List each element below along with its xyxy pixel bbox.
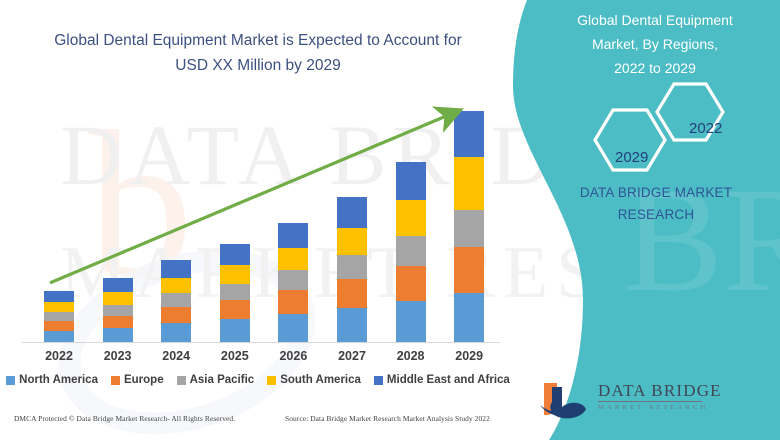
bar-segment-middle-east-and-africa [337, 197, 367, 228]
bar-segment-europe [454, 247, 484, 293]
bar-segment-middle-east-and-africa [396, 162, 426, 200]
panel-brand-text: DATA BRIDGE MARKET RESEARCH [540, 182, 772, 226]
bar-segment-europe [278, 290, 308, 313]
bar-segment-middle-east-and-africa [278, 223, 308, 248]
bar-segment-north-america [103, 328, 133, 342]
bar-segment-asia-pacific [220, 284, 250, 300]
hexagon-group: 2022 2029 [585, 78, 770, 188]
x-label-2027: 2027 [322, 349, 382, 363]
bar-2028 [396, 162, 426, 342]
x-label-2022: 2022 [29, 349, 89, 363]
bar-segment-europe [337, 279, 367, 308]
bar-segment-north-america [396, 301, 426, 342]
bar-segment-asia-pacific [44, 312, 74, 321]
logo-b-icon [538, 379, 594, 419]
bar-segment-south-america [161, 278, 191, 294]
legend-swatch-icon [374, 376, 383, 385]
bar-2022 [44, 291, 74, 342]
logo-rule [598, 401, 702, 402]
panel-brand-line-1: DATA BRIDGE MARKET [540, 182, 772, 204]
logo-main-text: DATA BRIDGE [598, 381, 722, 400]
panel-title: Global Dental Equipment Market, By Regio… [540, 8, 770, 80]
legend-item-south-america[interactable]: South America [267, 374, 361, 386]
hex-2022-label: 2022 [689, 120, 722, 137]
legend-label: South America [280, 374, 361, 386]
bar-segment-asia-pacific [161, 293, 191, 307]
x-label-2025: 2025 [205, 349, 265, 363]
data-bridge-logo: DATA BRIDGE MARKET RESEARCH [538, 379, 738, 419]
bar-segment-europe [220, 300, 250, 319]
bar-segment-north-america [454, 293, 484, 342]
panel-title-line-1: Global Dental Equipment [540, 8, 770, 32]
legend-label: North America [19, 374, 98, 386]
footer-copyright: DMCA Protected © Data Bridge Market Rese… [14, 414, 235, 423]
bar-segment-asia-pacific [454, 210, 484, 247]
bar-segment-asia-pacific [103, 305, 133, 316]
bar-segment-europe [396, 266, 426, 301]
bar-2026 [278, 223, 308, 343]
bar-2025 [220, 244, 250, 342]
legend-swatch-icon [177, 376, 186, 385]
bar-segment-south-america [396, 200, 426, 236]
legend-item-north-america[interactable]: North America [6, 374, 98, 386]
logo-text: DATA BRIDGE MARKET RESEARCH [598, 381, 722, 413]
bar-segment-north-america [337, 308, 367, 342]
panel-brand-line-2: RESEARCH [540, 204, 772, 226]
bar-segment-south-america [44, 302, 74, 312]
panel-title-line-2: Market, By Regions, [540, 32, 770, 56]
bar-segment-north-america [44, 331, 74, 342]
panel-title-line-3: 2022 to 2029 [540, 56, 770, 80]
x-label-2028: 2028 [381, 349, 441, 363]
x-label-2026: 2026 [263, 349, 323, 363]
bar-2024 [161, 260, 191, 342]
bar-segment-middle-east-and-africa [454, 111, 484, 157]
bar-segment-south-america [220, 265, 250, 283]
bar-segment-europe [103, 316, 133, 328]
bar-segment-middle-east-and-africa [44, 291, 74, 302]
x-label-2023: 2023 [88, 349, 148, 363]
bar-segment-south-america [103, 292, 133, 304]
bar-2023 [103, 278, 133, 342]
legend-item-europe[interactable]: Europe [111, 374, 164, 386]
legend-swatch-icon [111, 376, 120, 385]
x-label-2029: 2029 [439, 349, 499, 363]
legend-swatch-icon [267, 376, 276, 385]
chart-legend: North AmericaEuropeAsia PacificSouth Ame… [0, 374, 516, 386]
legend-swatch-icon [6, 376, 15, 385]
bar-segment-middle-east-and-africa [103, 278, 133, 292]
x-axis-labels: 20222023202420252026202720282029 [0, 349, 520, 369]
legend-label: Europe [124, 374, 164, 386]
bar-segment-europe [44, 321, 74, 331]
infographic-canvas: b DATA BRIDGE MARKET RESEARCH Global Den… [0, 0, 780, 440]
bar-2029 [454, 111, 484, 342]
x-label-2024: 2024 [146, 349, 206, 363]
logo-sub-text: MARKET RESEARCH [598, 403, 722, 413]
bar-segment-south-america [278, 248, 308, 270]
bar-segment-middle-east-and-africa [220, 244, 250, 265]
bar-segment-north-america [220, 319, 250, 342]
bar-segment-south-america [454, 157, 484, 210]
bar-segment-north-america [161, 323, 191, 342]
axis-baseline [22, 342, 500, 343]
bar-segment-middle-east-and-africa [161, 260, 191, 278]
bar-2027 [337, 197, 367, 342]
stacked-bars [0, 0, 520, 342]
bar-segment-asia-pacific [278, 270, 308, 290]
bar-segment-asia-pacific [337, 255, 367, 279]
legend-item-middle-east-and-africa[interactable]: Middle East and Africa [374, 374, 510, 386]
hex-2029-label: 2029 [615, 149, 648, 166]
bar-segment-europe [161, 307, 191, 323]
bar-segment-asia-pacific [396, 236, 426, 266]
footer-source: Source: Data Bridge Market Research Mark… [285, 414, 490, 423]
legend-label: Middle East and Africa [387, 374, 510, 386]
legend-label: Asia Pacific [190, 374, 255, 386]
legend-item-asia-pacific[interactable]: Asia Pacific [177, 374, 255, 386]
bar-segment-north-america [278, 314, 308, 342]
bar-segment-south-america [337, 228, 367, 255]
